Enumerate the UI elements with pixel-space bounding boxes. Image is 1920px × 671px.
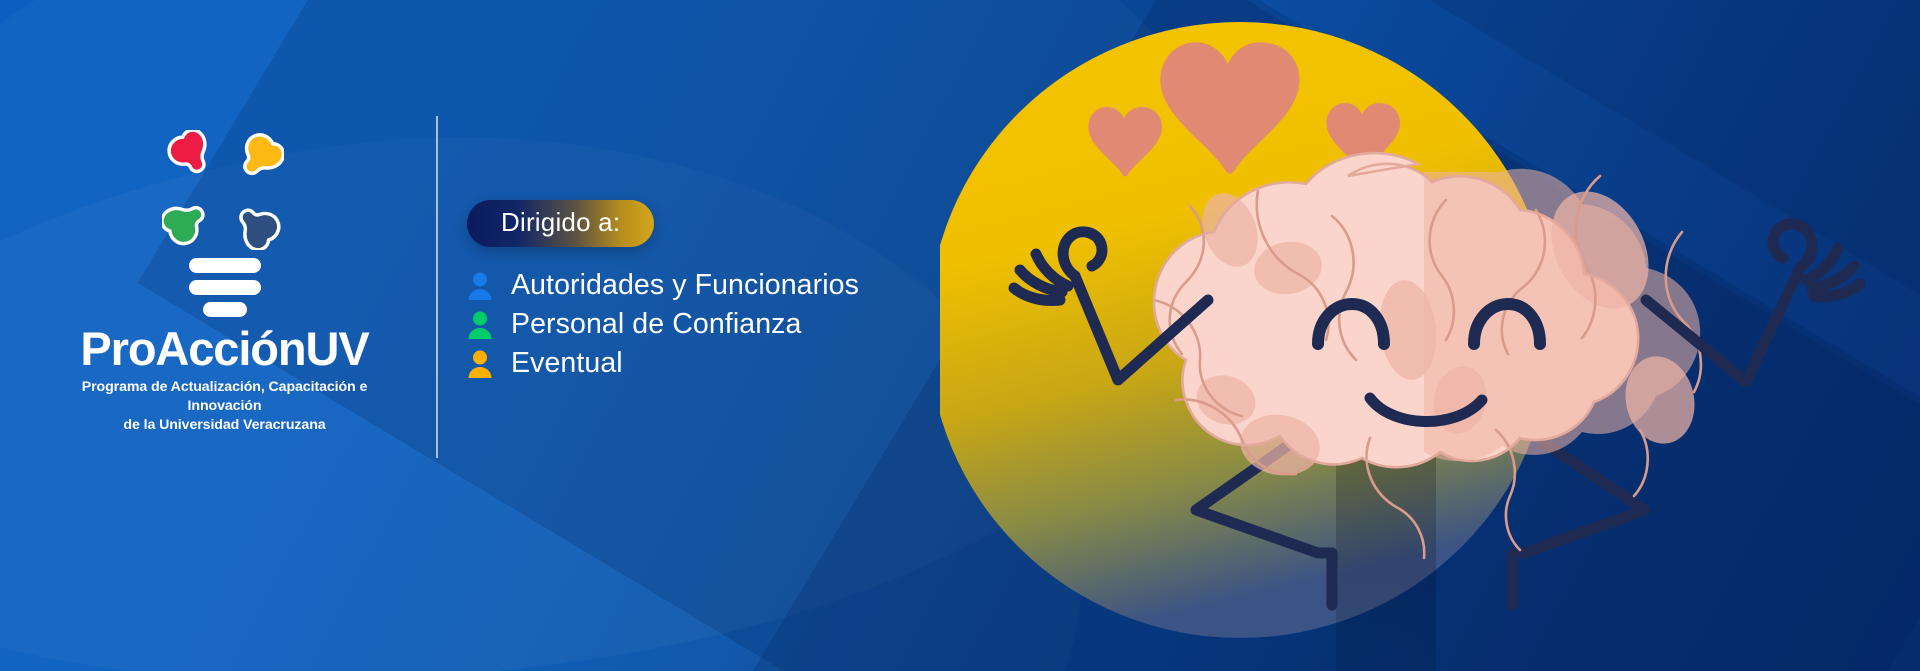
audience-item-eventual: Eventual xyxy=(467,347,859,380)
petal-group xyxy=(160,130,286,256)
proaccion-logo: ProAcciónUV Programa de Actualización, C… xyxy=(52,130,397,436)
petal-gold-icon xyxy=(226,130,284,188)
audience-item-label: Autoridades y Funcionarios xyxy=(511,269,859,302)
meditating-brain-illustration xyxy=(940,0,1920,671)
right-hand-mudra xyxy=(1773,224,1812,268)
audience-list: Autoridades y Funcionarios Personal de C… xyxy=(467,269,859,380)
logo-title: ProAcciónUV xyxy=(52,325,397,372)
person-icon xyxy=(467,271,493,301)
petal-navy-icon xyxy=(226,192,284,250)
audience-block: Dirigido a: Autoridades y Funcionarios P… xyxy=(467,200,859,386)
audience-item-label: Eventual xyxy=(511,347,623,380)
petal-red-icon xyxy=(162,130,220,188)
logo-tagline-line2: de la Universidad Veracruzana xyxy=(52,416,397,435)
audience-item-personal-confianza: Personal de Confianza xyxy=(467,308,859,341)
vertical-divider xyxy=(436,116,438,458)
bulb-base-icon xyxy=(160,258,290,324)
logo-tagline-line1: Programa de Actualización, Capacitación … xyxy=(52,378,397,416)
dirigido-a-badge: Dirigido a: xyxy=(467,200,654,247)
person-icon xyxy=(467,310,493,340)
petal-green-icon xyxy=(162,192,220,250)
audience-item-label: Personal de Confianza xyxy=(511,308,801,341)
logo-tagline: Programa de Actualización, Capacitación … xyxy=(52,378,397,436)
person-icon xyxy=(467,349,493,379)
audience-item-autoridades: Autoridades y Funcionarios xyxy=(467,269,859,302)
promo-banner: ProAcciónUV Programa de Actualización, C… xyxy=(0,0,1920,671)
lightbulb-petals-icon xyxy=(160,130,290,315)
